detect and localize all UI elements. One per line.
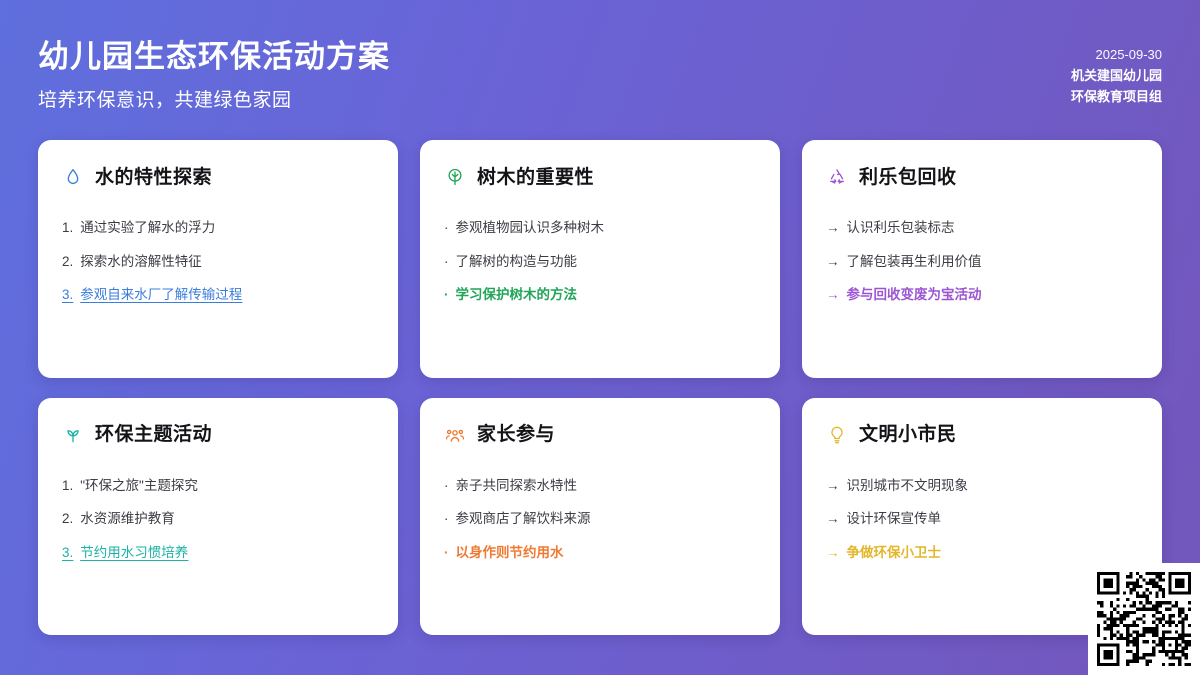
item-marker: → bbox=[826, 509, 840, 529]
header-organization: 机关建国幼儿园 bbox=[1071, 65, 1162, 86]
card-title: 文明小市民 bbox=[859, 425, 957, 444]
card-item: 1.通过实验了解水的浮力 bbox=[62, 218, 374, 238]
card-item: →争做环保小卫士 bbox=[826, 543, 1138, 563]
item-marker: → bbox=[826, 285, 840, 305]
card-item-list: ·亲子共同探索水特性·参观商店了解饮料来源·以身作则节约用水 bbox=[444, 476, 756, 563]
card-item: ·参观植物园认识多种树木 bbox=[444, 218, 756, 238]
card-title: 家长参与 bbox=[477, 425, 555, 444]
card-header: 家长参与 bbox=[444, 424, 756, 446]
card-title: 利乐包回收 bbox=[859, 168, 957, 187]
item-text: 通过实验了解水的浮力 bbox=[80, 218, 215, 238]
item-text: "环保之旅"主题探究 bbox=[80, 476, 198, 496]
item-text: 了解包装再生利用价值 bbox=[847, 252, 982, 272]
item-marker: · bbox=[444, 509, 449, 529]
card-item-list: 1.通过实验了解水的浮力2.探索水的溶解性特征3.参观自来水厂了解传输过程 bbox=[62, 218, 374, 305]
card-item-list: 1."环保之旅"主题探究2.水资源维护教育3.节约用水习惯培养 bbox=[62, 476, 374, 563]
item-marker: · bbox=[444, 252, 449, 272]
tree-icon bbox=[444, 166, 466, 188]
water-drop-icon bbox=[62, 166, 84, 188]
family-icon bbox=[444, 424, 466, 446]
card-item: →识别城市不文明现象 bbox=[826, 476, 1138, 496]
card-item: →认识利乐包装标志 bbox=[826, 218, 1138, 238]
card-title: 环保主题活动 bbox=[95, 425, 212, 444]
card-item-list: →识别城市不文明现象→设计环保宣传单→争做环保小卫士 bbox=[826, 476, 1138, 563]
header-meta-block: 2025-09-30 机关建国幼儿园 环保教育项目组 bbox=[1071, 34, 1162, 107]
seedling-icon bbox=[62, 424, 84, 446]
item-marker: 2. bbox=[62, 252, 73, 272]
item-marker: → bbox=[826, 218, 840, 238]
item-marker: 2. bbox=[62, 509, 73, 529]
card-header: 环保主题活动 bbox=[62, 424, 374, 446]
card-item-list: ·参观植物园认识多种树木·了解树的构造与功能·学习保护树木的方法 bbox=[444, 218, 756, 305]
page-title: 幼儿园生态环保活动方案 bbox=[38, 38, 390, 75]
item-text: 认识利乐包装标志 bbox=[847, 218, 955, 238]
activity-card: 利乐包回收→认识利乐包装标志→了解包装再生利用价值→参与回收变废为宝活动 bbox=[802, 140, 1162, 378]
header-team: 环保教育项目组 bbox=[1071, 86, 1162, 107]
item-text: 参观自来水厂了解传输过程 bbox=[80, 285, 242, 305]
item-text: 探索水的溶解性特征 bbox=[80, 252, 202, 272]
page-header: 幼儿园生态环保活动方案 培养环保意识，共建绿色家园 2025-09-30 机关建… bbox=[0, 0, 1200, 140]
item-marker: 1. bbox=[62, 476, 73, 496]
activity-card: 树木的重要性·参观植物园认识多种树木·了解树的构造与功能·学习保护树木的方法 bbox=[420, 140, 780, 378]
card-item-link[interactable]: 3.节约用水习惯培养 bbox=[62, 543, 374, 563]
recycle-icon bbox=[826, 166, 848, 188]
item-marker: · bbox=[444, 476, 449, 496]
header-title-block: 幼儿园生态环保活动方案 培养环保意识，共建绿色家园 bbox=[38, 34, 390, 112]
activity-card: 家长参与·亲子共同探索水特性·参观商店了解饮料来源·以身作则节约用水 bbox=[420, 398, 780, 636]
card-item: 2.探索水的溶解性特征 bbox=[62, 252, 374, 272]
item-text: 识别城市不文明现象 bbox=[847, 476, 969, 496]
card-header: 水的特性探索 bbox=[62, 166, 374, 188]
item-marker: · bbox=[444, 218, 449, 238]
page-subtitle: 培养环保意识，共建绿色家园 bbox=[38, 85, 390, 112]
card-item: →了解包装再生利用价值 bbox=[826, 252, 1138, 272]
qr-code-image bbox=[1097, 572, 1191, 666]
item-marker: → bbox=[826, 252, 840, 272]
card-grid: 水的特性探索1.通过实验了解水的浮力2.探索水的溶解性特征3.参观自来水厂了解传… bbox=[0, 140, 1200, 635]
item-marker: 3. bbox=[62, 285, 73, 305]
card-item-list: →认识利乐包装标志→了解包装再生利用价值→参与回收变废为宝活动 bbox=[826, 218, 1138, 305]
card-item: 2.水资源维护教育 bbox=[62, 509, 374, 529]
header-date: 2025-09-30 bbox=[1071, 44, 1162, 65]
qr-code[interactable] bbox=[1088, 563, 1200, 675]
item-text: 以身作则节约用水 bbox=[456, 543, 564, 563]
activity-card: 水的特性探索1.通过实验了解水的浮力2.探索水的溶解性特征3.参观自来水厂了解传… bbox=[38, 140, 398, 378]
item-marker: · bbox=[444, 543, 449, 563]
card-item: ·以身作则节约用水 bbox=[444, 543, 756, 563]
item-marker: · bbox=[444, 285, 449, 305]
lightbulb-icon bbox=[826, 424, 848, 446]
card-header: 树木的重要性 bbox=[444, 166, 756, 188]
item-marker: → bbox=[826, 543, 840, 563]
card-item: ·学习保护树木的方法 bbox=[444, 285, 756, 305]
card-item: →参与回收变废为宝活动 bbox=[826, 285, 1138, 305]
card-item: ·亲子共同探索水特性 bbox=[444, 476, 756, 496]
item-text: 了解树的构造与功能 bbox=[456, 252, 578, 272]
item-marker: 1. bbox=[62, 218, 73, 238]
item-text: 参与回收变废为宝活动 bbox=[847, 285, 982, 305]
item-text: 参观商店了解饮料来源 bbox=[456, 509, 591, 529]
item-text: 节约用水习惯培养 bbox=[80, 543, 188, 563]
card-header: 利乐包回收 bbox=[826, 166, 1138, 188]
card-title: 树木的重要性 bbox=[477, 168, 594, 187]
item-marker: → bbox=[826, 476, 840, 496]
item-text: 水资源维护教育 bbox=[80, 509, 175, 529]
item-text: 设计环保宣传单 bbox=[847, 509, 942, 529]
item-marker: 3. bbox=[62, 543, 73, 563]
card-item: 1."环保之旅"主题探究 bbox=[62, 476, 374, 496]
card-item: ·了解树的构造与功能 bbox=[444, 252, 756, 272]
item-text: 争做环保小卫士 bbox=[847, 543, 942, 563]
card-item: ·参观商店了解饮料来源 bbox=[444, 509, 756, 529]
activity-card: 环保主题活动1."环保之旅"主题探究2.水资源维护教育3.节约用水习惯培养 bbox=[38, 398, 398, 636]
card-item: →设计环保宣传单 bbox=[826, 509, 1138, 529]
card-header: 文明小市民 bbox=[826, 424, 1138, 446]
card-item-link[interactable]: 3.参观自来水厂了解传输过程 bbox=[62, 285, 374, 305]
card-title: 水的特性探索 bbox=[95, 168, 212, 187]
item-text: 参观植物园认识多种树木 bbox=[456, 218, 605, 238]
item-text: 学习保护树木的方法 bbox=[456, 285, 578, 305]
item-text: 亲子共同探索水特性 bbox=[456, 476, 578, 496]
